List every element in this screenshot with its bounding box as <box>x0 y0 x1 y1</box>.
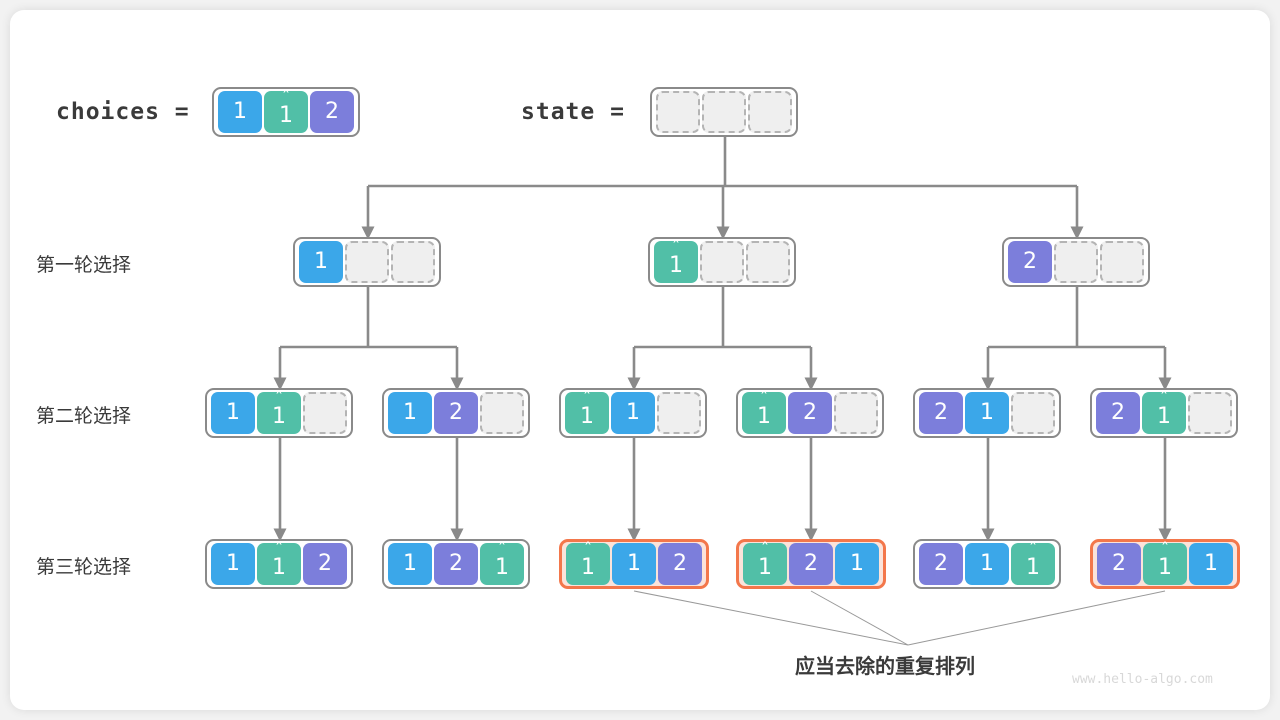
cell-value: 2 <box>934 402 948 424</box>
tree-node-duplicate: 2ˆ11 <box>1090 539 1240 589</box>
circumflex-icon: ˆ <box>264 90 308 107</box>
array-cell: 2 <box>788 392 832 434</box>
tree-node: 1 <box>293 237 441 287</box>
cell-value: 1 <box>980 402 994 424</box>
array-cell: 2 <box>434 543 478 585</box>
array-cell: ˆ1 <box>1143 543 1187 585</box>
connector-layer <box>0 0 1280 720</box>
tree-node: 1ˆ12 <box>205 539 353 589</box>
tree-node: 12ˆ1 <box>382 539 530 589</box>
cell-value: 2 <box>673 553 687 575</box>
array-cell <box>1054 241 1098 283</box>
cell-value: 2 <box>449 553 463 575</box>
cell-value: 1 <box>580 406 594 428</box>
cell-value: 1 <box>495 557 509 579</box>
cell-value: 1 <box>1026 557 1040 579</box>
circumflex-icon: ˆ <box>257 391 301 408</box>
array-cell: 1 <box>965 543 1009 585</box>
array-cell: 1 <box>299 241 343 283</box>
array-cell <box>345 241 389 283</box>
cell-value: 1 <box>627 553 641 575</box>
array-cell: ˆ1 <box>257 392 301 434</box>
array-cell: 1 <box>612 543 656 585</box>
cell-value: 1 <box>980 553 994 575</box>
tree-node: ˆ1 <box>648 237 796 287</box>
cell-value: 2 <box>318 553 332 575</box>
state-array <box>650 87 798 137</box>
watermark: www.hello-algo.com <box>1072 672 1213 687</box>
cell-value: 1 <box>226 553 240 575</box>
circumflex-icon: ˆ <box>742 391 786 408</box>
cell-value: 2 <box>1112 553 1126 575</box>
circumflex-icon: ˆ <box>1143 542 1187 559</box>
cell-value: 1 <box>1157 406 1171 428</box>
choices-label: choices = <box>56 99 190 125</box>
array-cell: 1 <box>211 392 255 434</box>
array-cell <box>1100 241 1144 283</box>
array-cell <box>834 392 878 434</box>
array-cell: 2 <box>303 543 347 585</box>
tree-node-duplicate: ˆ121 <box>736 539 886 589</box>
cell-value: 1 <box>581 557 595 579</box>
cell-value: 1 <box>403 402 417 424</box>
array-cell: 1 <box>835 543 879 585</box>
leader-line <box>908 591 1165 645</box>
array-cell <box>748 91 792 133</box>
array-cell: 2 <box>789 543 833 585</box>
array-cell: 2 <box>434 392 478 434</box>
cell-value: 1 <box>403 553 417 575</box>
array-cell: ˆ1 <box>565 392 609 434</box>
array-cell <box>1188 392 1232 434</box>
array-cell <box>700 241 744 283</box>
circumflex-icon: ˆ <box>1142 391 1186 408</box>
array-cell: 2 <box>919 392 963 434</box>
cell-value: 1 <box>669 255 683 277</box>
array-cell: 2 <box>1096 392 1140 434</box>
cell-value: 1 <box>272 557 286 579</box>
cell-value: 1 <box>626 402 640 424</box>
tree-node: ˆ12 <box>736 388 884 438</box>
array-cell: ˆ1 <box>480 543 524 585</box>
cell-value: 1 <box>757 406 771 428</box>
array-cell: ˆ1 <box>264 91 308 133</box>
array-cell: ˆ1 <box>743 543 787 585</box>
cell-value: 2 <box>934 553 948 575</box>
diagram-canvas: choices = state = 1ˆ12 第一轮选择 第二轮选择 第三轮选择… <box>0 0 1280 720</box>
cell-value: 1 <box>1158 557 1172 579</box>
cell-value: 2 <box>449 402 463 424</box>
array-cell: ˆ1 <box>742 392 786 434</box>
cell-value: 1 <box>233 101 247 123</box>
cell-value: 1 <box>279 105 293 127</box>
tree-node: 21ˆ1 <box>913 539 1061 589</box>
array-cell: ˆ1 <box>566 543 610 585</box>
array-cell: ˆ1 <box>1142 392 1186 434</box>
cell-value: 1 <box>226 402 240 424</box>
cell-value: 2 <box>325 101 339 123</box>
array-cell: 1 <box>388 543 432 585</box>
state-label: state = <box>521 99 625 125</box>
caption-duplicate-permutations: 应当去除的重复排列 <box>795 650 975 679</box>
circumflex-icon: ˆ <box>566 542 610 559</box>
array-cell: ˆ1 <box>257 543 301 585</box>
array-cell <box>1011 392 1055 434</box>
leader-line <box>811 591 908 645</box>
row-label-round1: 第一轮选择 <box>36 250 131 277</box>
cell-value: 2 <box>803 402 817 424</box>
array-cell: 2 <box>1008 241 1052 283</box>
cell-value: 2 <box>804 553 818 575</box>
tree-node: 2ˆ1 <box>1090 388 1238 438</box>
array-cell <box>391 241 435 283</box>
array-cell: ˆ1 <box>654 241 698 283</box>
cell-value: 1 <box>314 251 328 273</box>
circumflex-icon: ˆ <box>257 542 301 559</box>
array-cell: 1 <box>965 392 1009 434</box>
row-label-round3: 第三轮选择 <box>36 552 131 579</box>
cell-value: 1 <box>272 406 286 428</box>
tree-node: 21 <box>913 388 1061 438</box>
tree-node-duplicate: ˆ112 <box>559 539 709 589</box>
tree-node: 2 <box>1002 237 1150 287</box>
array-cell: 1 <box>611 392 655 434</box>
array-cell: ˆ1 <box>1011 543 1055 585</box>
row-label-round2: 第二轮选择 <box>36 401 131 428</box>
cell-value: 2 <box>1023 251 1037 273</box>
leader-line <box>634 591 908 645</box>
tree-node: 12 <box>382 388 530 438</box>
cell-value: 1 <box>1204 553 1218 575</box>
array-cell: 1 <box>218 91 262 133</box>
array-cell: 2 <box>919 543 963 585</box>
array-cell: 2 <box>658 543 702 585</box>
array-cell <box>303 392 347 434</box>
tree-node: 1ˆ1 <box>205 388 353 438</box>
cell-value: 1 <box>758 557 772 579</box>
array-cell <box>746 241 790 283</box>
cell-value: 2 <box>1111 402 1125 424</box>
circumflex-icon: ˆ <box>565 391 609 408</box>
array-cell: 2 <box>310 91 354 133</box>
array-cell: 1 <box>1189 543 1233 585</box>
array-cell <box>657 392 701 434</box>
circumflex-icon: ˆ <box>654 240 698 257</box>
choices-array: 1ˆ12 <box>212 87 360 137</box>
array-cell: 1 <box>388 392 432 434</box>
cell-value: 1 <box>850 553 864 575</box>
circumflex-icon: ˆ <box>743 542 787 559</box>
array-cell <box>480 392 524 434</box>
array-cell <box>702 91 746 133</box>
circumflex-icon: ˆ <box>480 542 524 559</box>
array-cell <box>656 91 700 133</box>
array-cell: 2 <box>1097 543 1141 585</box>
array-cell: 1 <box>211 543 255 585</box>
tree-node: ˆ11 <box>559 388 707 438</box>
circumflex-icon: ˆ <box>1011 542 1055 559</box>
